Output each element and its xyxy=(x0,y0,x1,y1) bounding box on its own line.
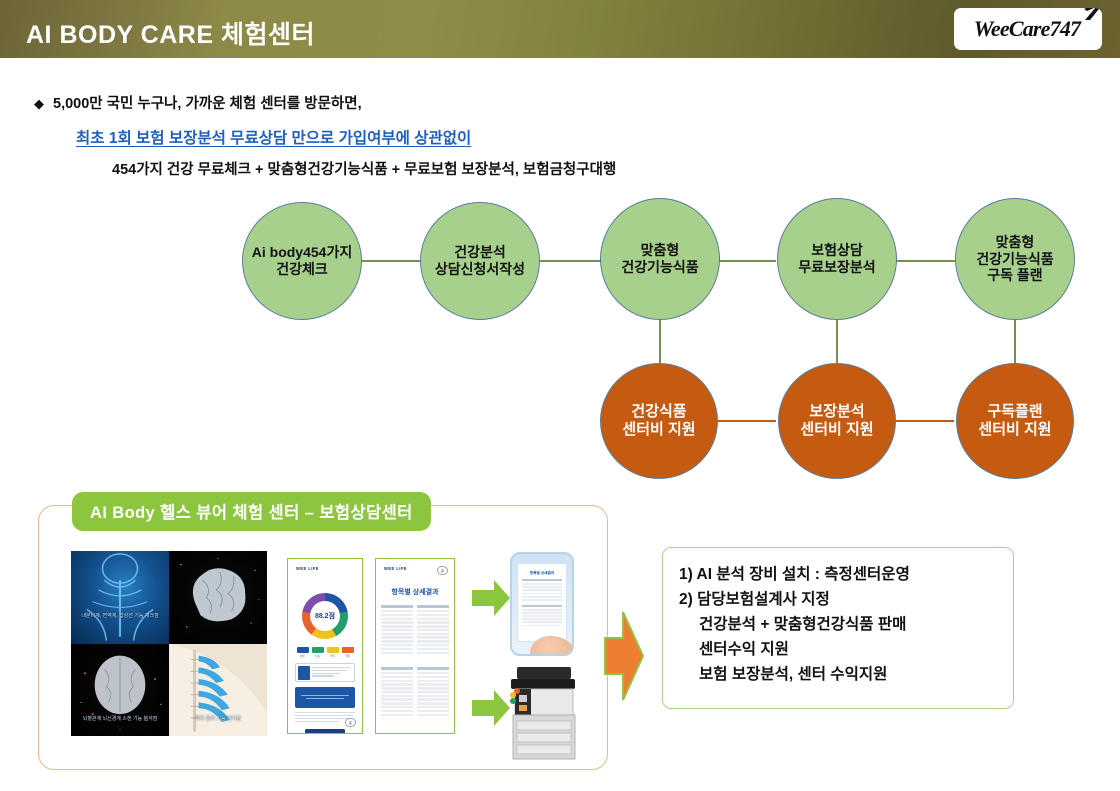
report-a-note xyxy=(295,663,355,682)
flow-node-green-1-label: Ai body454가지 건강체크 xyxy=(246,244,358,277)
flow-node-orange-2-label: 보장분석 센터비 지원 xyxy=(794,403,879,438)
collage-cell-brain-front: 뇌혈관계 뇌신경계 스캔 기능 분석점 xyxy=(71,644,169,737)
score-legend: 양호 보통 주의 위험 xyxy=(295,647,355,658)
flow-node-green-4[interactable]: 보험상담 무료보장분석 xyxy=(777,198,897,320)
connector-g5-o3 xyxy=(1014,316,1016,370)
flow-node-orange-1-label: 건강식품 센터비 지원 xyxy=(616,403,701,438)
hand-icon xyxy=(530,636,574,656)
collage-cell-spine: 척추·흉곽 기능 분석점 xyxy=(169,644,267,737)
flow-node-orange-3-label: 구독플랜 센터비 지원 xyxy=(972,403,1057,438)
report-a-cta-banner[interactable] xyxy=(295,687,355,708)
report-card-summary[interactable]: WEE LIFE 88.2점 양호 보통 주의 위험 홈 xyxy=(287,558,363,734)
report-a-home-pill[interactable]: 홈 xyxy=(345,718,356,727)
legend-item: 양호 xyxy=(297,647,309,658)
score-value: 88.2점 xyxy=(315,611,335,621)
connector-g3-o1 xyxy=(659,316,661,370)
slide-root: AI BODY CARE 체험센터 WeeCare747 ◆5,000만 국민 … xyxy=(0,0,1120,791)
legend-item: 보통 xyxy=(312,647,324,658)
detail-table xyxy=(417,605,449,655)
flow-node-green-3-label: 맞춤형 건강기능식품 xyxy=(615,242,704,275)
hand-holding-phone: 항목별 상세결과 xyxy=(510,552,574,656)
info-line-1: 1) AI 분석 장비 설치 : 측정센터운영 xyxy=(679,562,997,587)
connector-g4-g5 xyxy=(894,260,958,262)
collage-cell-neck-scan: 내분비계, 면역계, 갑상선 기능 체크점 xyxy=(71,551,169,644)
detail-table xyxy=(381,667,413,717)
flow-node-green-2-label: 건강분석 상담신청서작성 xyxy=(429,244,531,277)
detail-table-group-2 xyxy=(381,667,449,717)
flow-node-orange-2[interactable]: 보장분석 센터비 지원 xyxy=(778,363,896,479)
flow-node-green-5-label: 맞춤형 건강기능식품 구독 플랜 xyxy=(970,234,1059,284)
info-line-4: 센터수익 지원 xyxy=(679,637,997,662)
collage-cell-neck-caption: 내분비계, 면역계, 갑상선 기능 체크점 xyxy=(71,613,169,620)
green-arrow-to-phone-icon xyxy=(470,578,512,618)
connector-g1-g2 xyxy=(362,260,420,262)
legend-item: 위험 xyxy=(342,647,354,658)
detail-table-group-1 xyxy=(381,605,449,655)
info-line-5: 보험 보장분석, 센터 수익지원 xyxy=(679,662,997,687)
collage-cell-brain-front-caption: 뇌혈관계 뇌신경계 스캔 기능 분석점 xyxy=(71,716,169,723)
multifunction-printer xyxy=(505,665,583,761)
detail-table xyxy=(417,667,449,717)
connector-o2-o3 xyxy=(896,420,954,422)
flow-diagram: Ai body454가지 건강체크 건강분석 상담신청서작성 맞춤형 건강기능식… xyxy=(0,0,1120,500)
info-line-2: 2) 담당보험설계사 지정 xyxy=(679,587,997,612)
report-a-logo: WEE LIFE xyxy=(296,566,319,571)
panel-title-badge: AI Body 헬스 뷰어 체험 센터 – 보험상담센터 xyxy=(72,492,431,531)
report-b-title: 항목별 상세결과 xyxy=(376,587,454,597)
info-box: 1) AI 분석 장비 설치 : 측정센터운영 2) 담당보험설계사 지정 건강… xyxy=(662,547,1014,709)
flow-node-green-2[interactable]: 건강분석 상담신청서작성 xyxy=(420,202,540,320)
info-line-3: 건강분석 + 맞춤형건강식품 판매 xyxy=(679,612,997,637)
legend-item: 주의 xyxy=(327,647,339,658)
flow-node-green-3[interactable]: 맞춤형 건강기능식품 xyxy=(600,198,720,320)
report-b-home-pill[interactable]: 홈 xyxy=(437,566,448,575)
connector-o1-o2 xyxy=(718,420,776,422)
green-arrow-to-printer-icon xyxy=(470,688,512,728)
report-b-logo: WEE LIFE xyxy=(384,566,407,571)
flow-node-orange-1[interactable]: 건강식품 센터비 지원 xyxy=(600,363,718,479)
note-chip xyxy=(298,666,310,680)
phone-table-mini xyxy=(518,576,566,626)
connector-g4-o2 xyxy=(836,316,838,370)
flow-node-green-5[interactable]: 맞춤형 건강기능식품 구독 플랜 xyxy=(955,198,1075,320)
orange-arrow-to-info-icon xyxy=(601,608,645,704)
connector-g2-g3 xyxy=(538,260,604,262)
note-text-lines xyxy=(312,667,352,679)
report-a-detail-button[interactable] xyxy=(305,729,345,734)
flow-node-green-4-label: 보험상담 무료보장분석 xyxy=(792,242,881,275)
collage-cell-brain-side xyxy=(169,551,267,644)
phone-screen: 항목별 상세결과 xyxy=(517,563,567,642)
scan-image-collage: 내분비계, 면역계, 갑상선 기능 체크점 xyxy=(71,551,267,736)
score-donut-chart: 88.2점 xyxy=(302,593,348,639)
detail-table xyxy=(381,605,413,655)
connector-g3-g4 xyxy=(716,260,776,262)
collage-cell-spine-caption: 척추·흉곽 기능 분석점 xyxy=(169,716,267,723)
neck-anatomy-icon xyxy=(71,551,169,644)
report-card-detail[interactable]: WEE LIFE 홈 항목별 상세결과 xyxy=(375,558,455,734)
flow-node-orange-3[interactable]: 구독플랜 센터비 지원 xyxy=(956,363,1074,479)
flow-node-green-1[interactable]: Ai body454가지 건강체크 xyxy=(242,202,362,320)
brain-side-icon xyxy=(169,551,267,644)
